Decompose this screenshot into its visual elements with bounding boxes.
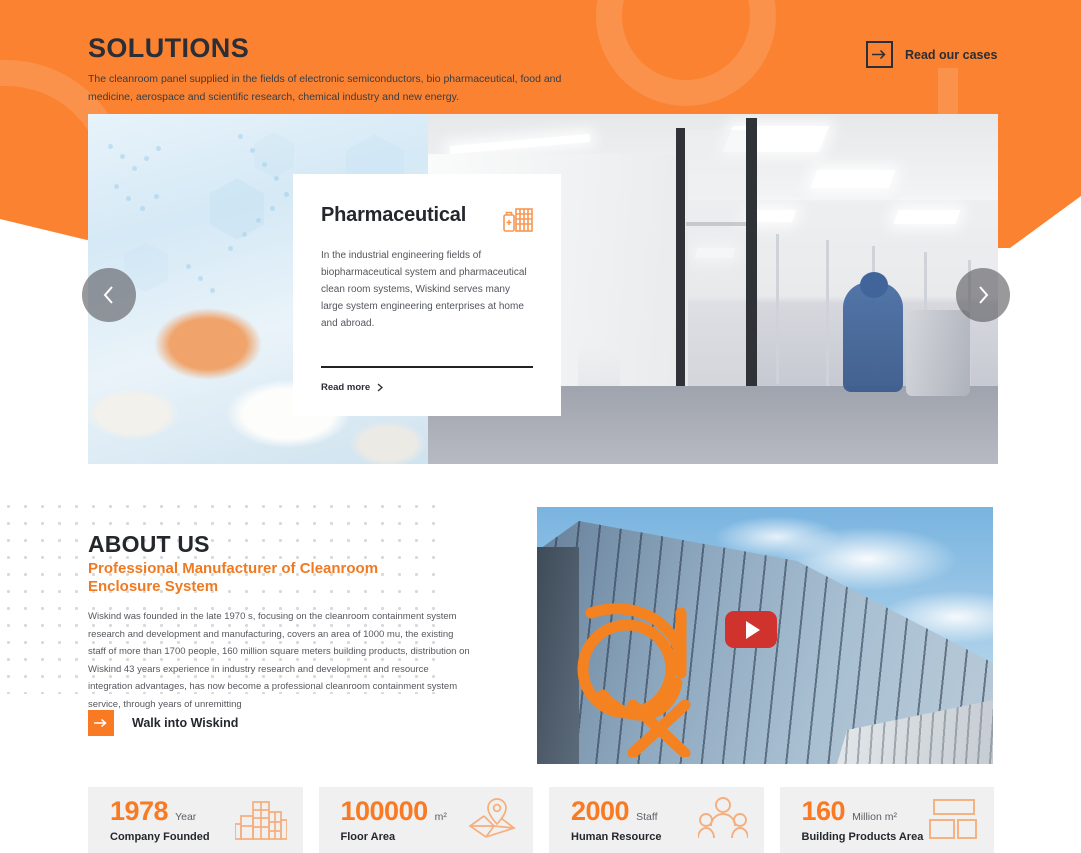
play-triangle-icon [746,621,760,639]
stat-number: 100000 [341,796,428,827]
people-icon [698,796,748,845]
read-more-link[interactable]: Read more [321,382,384,393]
stat-unit: Year [175,811,196,823]
stat-unit: Staff [636,811,657,823]
page-root: SOLUTIONS The cleanroom panel supplied i… [0,0,1081,853]
stat-card: 100000 m² Floor Area [319,787,534,853]
stat-unit: m² [435,811,447,823]
arrow-right-filled-icon [88,710,114,736]
about-body-text: Wiskind was founded in the late 1970 s, … [88,608,470,713]
solution-card-title: Pharmaceutical [321,204,466,227]
read-our-cases-label: Read our cases [905,48,997,62]
pharmacy-building-icon [503,207,533,233]
play-button[interactable] [725,611,777,648]
card-divider [321,366,533,368]
stat-number: 1978 [110,796,168,827]
about-subtitle: Professional Manufacturer of Cleanroom E… [88,560,418,596]
carousel-prev-button[interactable] [82,268,136,322]
stat-number: 160 [802,796,846,827]
walk-into-wiskind-button[interactable]: Walk into Wiskind [88,710,238,736]
hero-subtitle: The cleanroom panel supplied in the fiel… [88,70,598,106]
stat-number: 2000 [571,796,629,827]
stats-row: 1978 Year Company Founded 100000 [88,787,998,853]
solution-card-body: In the industrial engineering fields of … [321,247,533,332]
solutions-carousel: Pharmaceutical In the industrial enginee… [88,114,998,464]
stat-card: 160 Million m² Building Products Area [780,787,995,853]
stat-card: 1978 Year Company Founded [88,787,303,853]
carousel-next-button[interactable] [956,268,1010,322]
page-title: SOLUTIONS [88,33,249,64]
arrow-right-icon [866,41,893,68]
stat-unit: Million m² [852,811,897,823]
solution-card: Pharmaceutical In the industrial enginee… [293,174,561,416]
about-title: ABOUT US [88,531,210,558]
read-more-label: Read more [321,382,370,393]
panels-icon [928,798,978,845]
buildings-icon [235,796,287,845]
read-our-cases-link[interactable]: Read our cases [866,41,997,68]
map-pin-icon [467,796,517,845]
stat-card: 2000 Staff Human Resource [549,787,764,853]
about-video-thumbnail[interactable] [537,507,993,764]
walk-into-wiskind-label: Walk into Wiskind [132,716,238,730]
wiskind-logo-sculpture-icon [573,577,703,757]
